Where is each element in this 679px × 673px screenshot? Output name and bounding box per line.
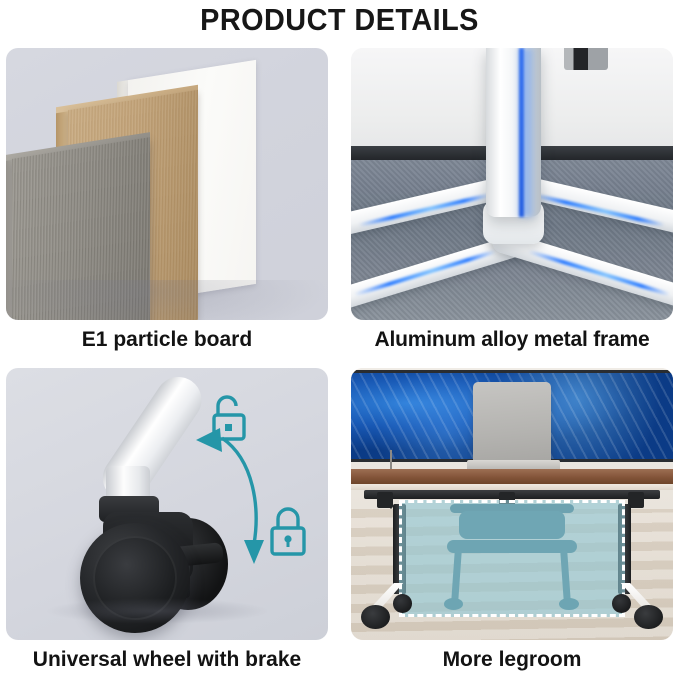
laptop	[473, 382, 550, 466]
desk-caster-left-rear	[393, 594, 412, 613]
feature-card-universal-wheel[interactable]: Universal wheel with brake	[6, 368, 328, 640]
legroom-photo	[351, 368, 673, 640]
desk-caster-left	[361, 605, 390, 629]
product-details-page: PRODUCT DETAILS	[0, 0, 679, 673]
desk-top-surface	[351, 469, 673, 484]
feature-card-metal-frame[interactable]: Aluminum alloy metal frame	[351, 48, 673, 320]
metal-frame-photo	[351, 48, 673, 320]
column-led-glow	[515, 48, 537, 217]
arrow-head-down	[244, 540, 264, 564]
curved-arrow-path	[222, 438, 256, 544]
feature-card-legroom[interactable]: More legroom	[351, 368, 673, 640]
lock-icon	[272, 509, 304, 554]
desk-bracket-left	[377, 492, 393, 508]
cable-grommet	[564, 48, 608, 70]
frame-column	[486, 48, 541, 217]
legroom-highlight-region	[399, 500, 624, 617]
feature-caption-metal-frame: Aluminum alloy metal frame	[351, 328, 673, 352]
lock-toggle-diagram	[6, 368, 328, 640]
feature-caption-universal-wheel: Universal wheel with brake	[6, 648, 328, 672]
desk-edge	[351, 484, 673, 491]
feature-caption-legroom: More legroom	[351, 648, 673, 672]
feature-caption-particle-board: E1 particle board	[6, 328, 328, 352]
column-led-strip	[519, 48, 524, 217]
particle-board-photo	[6, 48, 328, 320]
desk-caster-right-rear	[612, 594, 631, 613]
feature-card-particle-board[interactable]: E1 particle board	[6, 48, 328, 320]
page-title: PRODUCT DETAILS	[24, 2, 655, 38]
boards-shadow	[6, 280, 328, 320]
feature-grid: E1 particle board	[0, 45, 679, 673]
universal-wheel-photo	[6, 368, 328, 640]
